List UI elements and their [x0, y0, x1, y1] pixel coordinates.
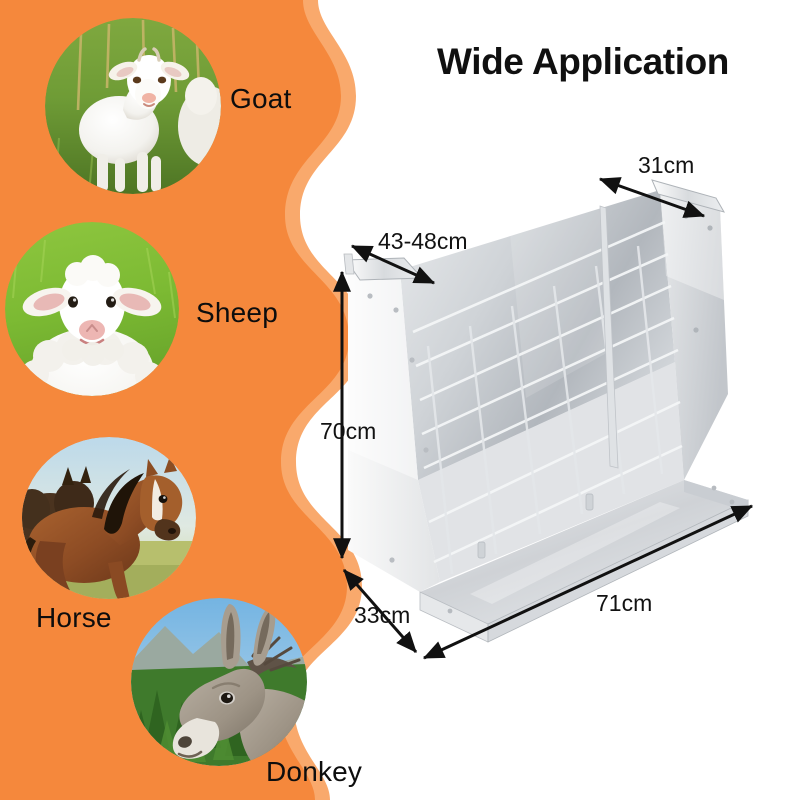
dimension-label-width: 71cm [596, 590, 652, 617]
animal-label-donkey: Donkey [266, 756, 362, 788]
dimension-label-top-depth: 31cm [638, 152, 694, 179]
donkey-photo [131, 598, 307, 766]
dimension-label-tray-depth: 33cm [354, 602, 410, 629]
page-title: Wide Application [437, 41, 729, 83]
infographic-page: Wide Application [0, 0, 800, 800]
dimension-label-height: 70cm [320, 418, 376, 445]
hay-feeder-illustration [300, 150, 800, 680]
sheep-photo [5, 222, 179, 396]
product-dimension-diagram: 31cm 43-48cm 70cm 33cm 71cm [300, 150, 800, 680]
animal-label-horse: Horse [36, 602, 112, 634]
horse-photo [22, 437, 196, 599]
goat-photo [45, 18, 221, 194]
dimension-label-side-top-edge: 43-48cm [378, 228, 467, 255]
animal-label-goat: Goat [230, 83, 292, 115]
animal-label-sheep: Sheep [196, 297, 278, 329]
